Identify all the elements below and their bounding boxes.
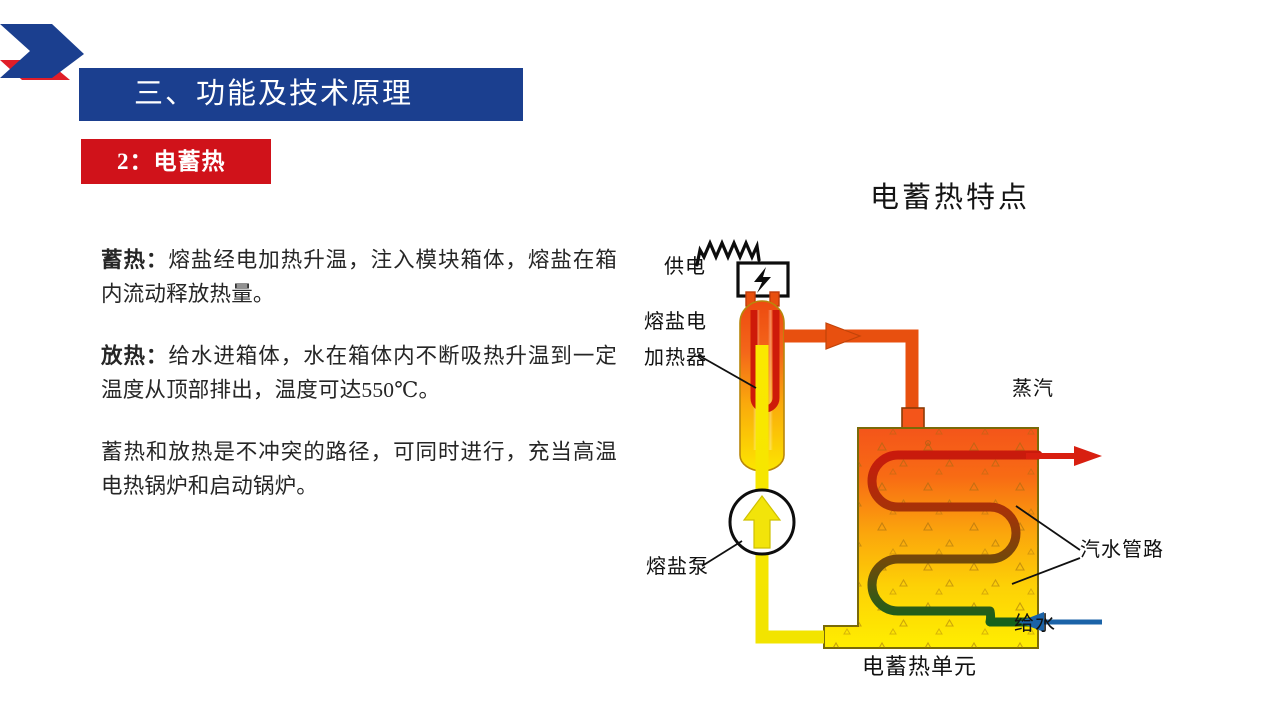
subsection-banner: 2：电蓄热 xyxy=(81,139,271,184)
molten-salt-pump xyxy=(730,490,794,554)
electric-heater-box-icon xyxy=(738,263,788,296)
label-power-supply: 供电 xyxy=(664,255,706,279)
paragraph-text-release: 给水进箱体，水在箱体内不断吸热升温到一定温度从顶部排出，温度可达550℃。 xyxy=(101,344,617,402)
paragraph-release: 放热：给水进箱体，水在箱体内不断吸热升温到一定温度从顶部排出，温度可达550℃。 xyxy=(101,339,617,407)
paragraph-lead-release: 放热： xyxy=(101,344,168,368)
diagram-svg xyxy=(640,160,1260,705)
paragraph-storage: 蓄热：熔盐经电加热升温，注入模块箱体，熔盐在箱内流动释放热量。 xyxy=(101,243,617,311)
paragraph-lead-storage: 蓄热： xyxy=(101,248,168,272)
corner-decoration xyxy=(0,24,84,92)
diagram-caption: 电蓄热单元 xyxy=(862,655,977,679)
label-feedwater: 给水 xyxy=(1014,612,1056,636)
label-steam: 蒸汽 xyxy=(1012,377,1054,401)
paragraph-text-summary: 蓄热和放热是不冲突的路径，可同时进行，充当高温电热锅炉和启动锅炉。 xyxy=(101,440,617,498)
section-title-text: 三、功能及技术原理 xyxy=(79,80,413,109)
label-pipeline: 汽水管路 xyxy=(1080,538,1164,562)
thermal-storage-diagram: 电蓄热特点 xyxy=(640,160,1260,705)
label-heater-line1: 熔盐电 xyxy=(644,310,707,334)
hot-salt-flow-arrow xyxy=(826,323,860,349)
label-heater-line2: 加热器 xyxy=(644,346,707,370)
subsection-label: 2：电蓄热 xyxy=(81,150,226,173)
corner-deco-blue-shape xyxy=(0,24,84,78)
paragraph-text-storage: 熔盐经电加热升温，注入模块箱体，熔盐在箱内流动释放热量。 xyxy=(101,248,617,306)
label-pump: 熔盐泵 xyxy=(646,555,709,579)
hot-salt-pipe xyxy=(784,323,912,422)
paragraph-summary: 蓄热和放热是不冲突的路径，可同时进行，充当高温电热锅炉和启动锅炉。 xyxy=(101,435,617,503)
section-title-bar: 三、功能及技术原理 xyxy=(79,68,523,121)
body-copy: 蓄热：熔盐经电加热升温，注入模块箱体，熔盐在箱内流动释放热量。 放热：给水进箱体… xyxy=(101,243,617,503)
tank-inlet-stub xyxy=(902,408,924,430)
